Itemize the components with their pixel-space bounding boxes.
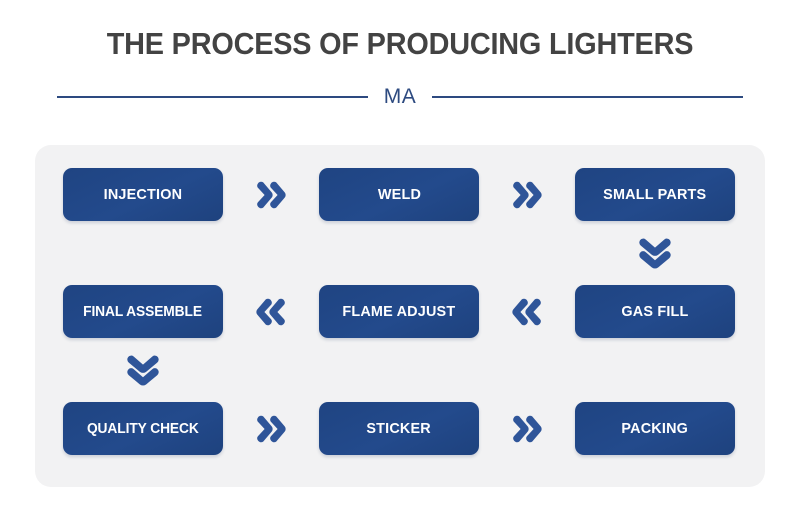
- connector-gas-fill-to-flame-adjust: [479, 285, 575, 338]
- process-flow-card: INJECTION WELD: [35, 145, 765, 487]
- double-chevron-down-icon: [635, 236, 675, 270]
- step-gas-fill[interactable]: GAS FILL: [575, 285, 735, 338]
- spacer-cell: [319, 221, 479, 285]
- step-sticker[interactable]: STICKER: [319, 402, 479, 455]
- connector-sticker-to-packing: [479, 402, 575, 455]
- double-chevron-right-icon: [254, 180, 288, 210]
- divider-line-right: [432, 96, 743, 98]
- divider-line-left: [57, 96, 368, 98]
- spacer-cell: [479, 338, 575, 402]
- step-label: QUALITY CHECK: [87, 421, 199, 437]
- spacer-cell: [319, 338, 479, 402]
- spacer-cell: [63, 221, 223, 285]
- step-label: INJECTION: [104, 186, 183, 203]
- step-label: FLAME ADJUST: [343, 303, 456, 320]
- double-chevron-right-icon: [510, 180, 544, 210]
- subtitle-divider-row: MA: [57, 82, 743, 112]
- infographic-page: THE PROCESS OF PRODUCING LIGHTERS MA INJ…: [0, 0, 800, 510]
- connector-quality-check-to-sticker: [223, 402, 319, 455]
- step-small-parts[interactable]: SMALL PARTS: [575, 168, 735, 221]
- spacer-cell: [223, 338, 319, 402]
- subtitle-label: MA: [368, 86, 433, 107]
- double-chevron-left-icon: [510, 297, 544, 327]
- process-grid: INJECTION WELD: [63, 168, 737, 464]
- step-final-assemble[interactable]: FINAL ASSEMBLE: [63, 285, 223, 338]
- double-chevron-right-icon: [510, 414, 544, 444]
- step-quality-check[interactable]: QUALITY CHECK: [63, 402, 223, 455]
- connector-final-assemble-to-quality-check: [63, 338, 223, 402]
- step-packing[interactable]: PACKING: [575, 402, 735, 455]
- step-injection[interactable]: INJECTION: [63, 168, 223, 221]
- step-label: FINAL ASSEMBLE: [84, 304, 203, 320]
- step-label: SMALL PARTS: [603, 186, 706, 203]
- spacer-cell: [223, 221, 319, 285]
- double-chevron-down-icon: [123, 353, 163, 387]
- header: THE PROCESS OF PRODUCING LIGHTERS MA: [0, 0, 800, 130]
- spacer-cell: [575, 338, 735, 402]
- page-title: THE PROCESS OF PRODUCING LIGHTERS: [28, 26, 772, 62]
- connector-small-parts-to-gas-fill: [575, 221, 735, 285]
- connector-flame-adjust-to-final-assemble: [223, 285, 319, 338]
- connector-injection-to-weld: [223, 168, 319, 221]
- step-flame-adjust[interactable]: FLAME ADJUST: [319, 285, 479, 338]
- step-weld[interactable]: WELD: [319, 168, 479, 221]
- spacer-cell: [479, 221, 575, 285]
- connector-weld-to-small-parts: [479, 168, 575, 221]
- step-label: WELD: [377, 186, 420, 203]
- double-chevron-left-icon: [254, 297, 288, 327]
- double-chevron-right-icon: [254, 414, 288, 444]
- step-label: STICKER: [367, 420, 432, 437]
- step-label: PACKING: [622, 420, 689, 437]
- step-label: GAS FILL: [621, 303, 688, 320]
